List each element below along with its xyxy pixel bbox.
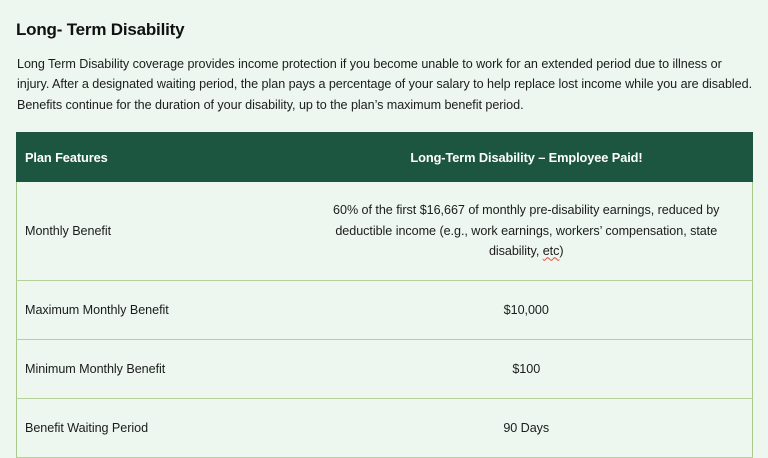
spellcheck-flagged-word: etc <box>543 244 560 258</box>
row-value-benefit-waiting-period: 90 Days <box>301 399 753 458</box>
row-label-maximum-monthly-benefit: Maximum Monthly Benefit <box>17 281 301 340</box>
intro-paragraph: Long Term Disability coverage provides i… <box>17 54 753 116</box>
column-header-plan-features: Plan Features <box>17 133 301 182</box>
table-row: Benefit Waiting Period 90 Days <box>17 399 753 458</box>
monthly-benefit-text: 60% of the first $16,667 of monthly pre-… <box>333 203 719 258</box>
table-row: Monthly Benefit 60% of the first $16,667… <box>17 182 753 281</box>
row-value-minimum-monthly-benefit: $100 <box>301 340 753 399</box>
table-row: Maximum Monthly Benefit $10,000 <box>17 281 753 340</box>
row-value-monthly-benefit: 60% of the first $16,667 of monthly pre-… <box>301 182 753 281</box>
table-body: Monthly Benefit 60% of the first $16,667… <box>17 182 753 458</box>
document-page: Long- Term Disability Long Term Disabili… <box>0 0 768 433</box>
benefits-table: Plan Features Long-Term Disability – Emp… <box>16 132 753 458</box>
row-value-maximum-monthly-benefit: $10,000 <box>301 281 753 340</box>
column-header-plan-value: Long-Term Disability – Employee Paid! <box>301 133 753 182</box>
page-title: Long- Term Disability <box>16 19 184 41</box>
row-label-minimum-monthly-benefit: Minimum Monthly Benefit <box>17 340 301 399</box>
row-label-benefit-waiting-period: Benefit Waiting Period <box>17 399 301 458</box>
table-header: Plan Features Long-Term Disability – Emp… <box>17 133 753 182</box>
table-header-row: Plan Features Long-Term Disability – Emp… <box>17 133 753 182</box>
row-label-monthly-benefit: Monthly Benefit <box>17 182 301 281</box>
table-row: Minimum Monthly Benefit $100 <box>17 340 753 399</box>
monthly-benefit-text-suffix: ) <box>559 244 563 258</box>
